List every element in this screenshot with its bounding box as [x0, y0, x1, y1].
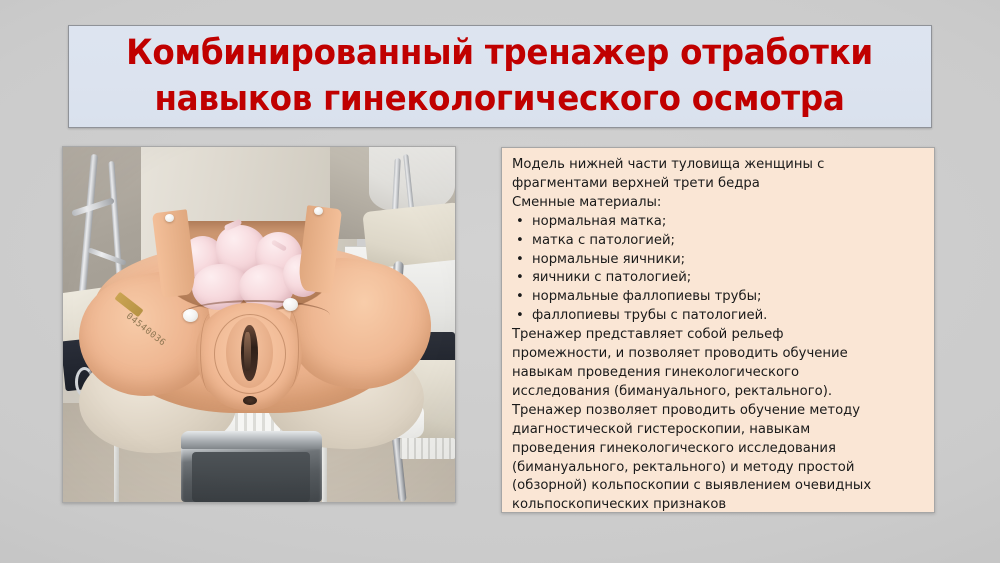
presentation-slide: Комбинированный тренажер отработки навык… [0, 0, 1000, 563]
list-item-label: яичники с патологией; [532, 269, 691, 288]
photo-steel-tray-rim [181, 431, 322, 449]
bullet-icon: • [512, 232, 532, 251]
bullet-icon: • [512, 307, 532, 326]
list-item: • нормальные яичники; [512, 251, 924, 270]
bullet-icon: • [512, 213, 532, 232]
bullet-icon: • [512, 269, 532, 288]
description-line: кольпоскопических признаков [512, 496, 924, 515]
bullet-icon: • [512, 288, 532, 307]
photo-snap-button [283, 298, 298, 311]
photo-cushion-pad [362, 202, 456, 269]
list-item-label: матка с патологией; [532, 232, 675, 251]
list-item-label: нормальная матка; [532, 213, 666, 232]
photo-anus [243, 396, 256, 405]
photo-steel-tray-inner [192, 452, 310, 502]
bullet-icon: • [512, 251, 532, 270]
description-line: Тренажер представляет собой рельеф [512, 326, 924, 345]
slide-title-box: Комбинированный тренажер отработки навык… [68, 25, 932, 128]
description-panel: Модель нижней части туловища женщины с ф… [501, 147, 935, 513]
photo-table-grid [400, 438, 455, 459]
description-line: (обзорной) кольпоскопии с выявлением оче… [512, 477, 924, 496]
list-item-label: нормальные фаллопиевы трубы; [532, 288, 761, 307]
list-item-label: нормальные яичники; [532, 251, 685, 270]
description-line: проведения гинекологического исследовани… [512, 440, 924, 459]
list-item: • нормальная матка; [512, 213, 924, 232]
list-item-label: фаллопиевы трубы с патологией. [532, 307, 767, 326]
description-line: промежности, и позволяет проводить обуче… [512, 345, 924, 364]
description-line: Сменные материалы: [512, 194, 924, 213]
page-title: Комбинированный тренажер отработки навык… [117, 31, 882, 122]
description-line: исследования (бимануального, ректального… [512, 383, 924, 402]
photo-crease [279, 310, 300, 388]
list-item: • матка с патологией; [512, 232, 924, 251]
photo-introitus-highlight [244, 332, 250, 371]
description-line: навыкам проведения гинекологического [512, 364, 924, 383]
list-item: • яичники с патологией; [512, 269, 924, 288]
description-line: (бимануального, ректального) и методу пр… [512, 459, 924, 478]
trainer-photo: 04540036 [62, 146, 456, 503]
photo-crease [200, 314, 221, 392]
list-item: • фаллопиевы трубы с патологией. [512, 307, 924, 326]
description-line: фрагментами верхней трети бедра [512, 175, 924, 194]
description-line: Тренажер позволяет проводить обучение ме… [512, 402, 924, 421]
description-line: диагностической гистероскопии, навыкам [512, 421, 924, 440]
photo-snap-button [183, 309, 198, 322]
description-line: Модель нижней части туловища женщины с [512, 156, 924, 175]
list-item: • нормальные фаллопиевы трубы; [512, 288, 924, 307]
